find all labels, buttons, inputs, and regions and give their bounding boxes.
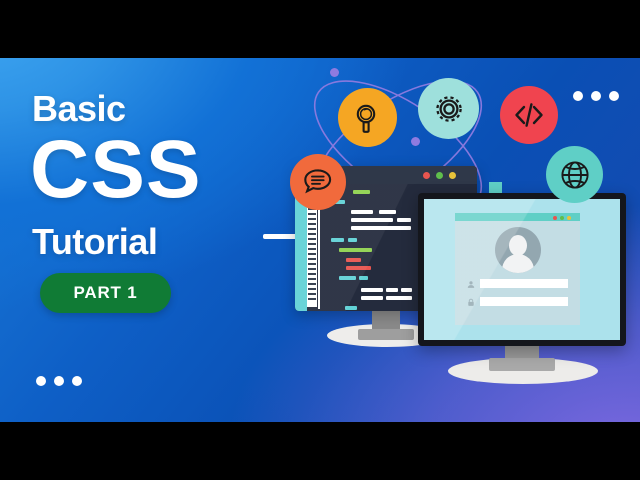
orbit-dot <box>411 137 420 146</box>
dot-icon <box>36 376 46 386</box>
gear-icon <box>418 78 479 139</box>
login-screen-monitor <box>418 193 626 346</box>
dot-icon <box>573 91 583 101</box>
window-dot-yellow <box>449 172 456 179</box>
window-dot-red <box>423 172 430 179</box>
artwork-canvas: Basic CSS Tutorial PART 1 <box>0 58 640 422</box>
login-monitor-glare <box>424 199 620 340</box>
dot-icon <box>72 376 82 386</box>
code-monitor-stand-base <box>358 329 414 340</box>
dot-icon <box>609 91 619 101</box>
login-monitor-stand-base <box>489 358 555 371</box>
status-badge-label: PART 1 <box>74 283 138 303</box>
headline-line-3: Tutorial <box>32 221 157 263</box>
dot-icon <box>54 376 64 386</box>
page-title: CSS <box>30 131 202 209</box>
dots-decoration-right <box>573 91 619 101</box>
code-tag-icon <box>500 86 558 144</box>
thumbnail-frame: Basic CSS Tutorial PART 1 <box>0 0 640 480</box>
orbit-dot <box>330 68 339 77</box>
window-dot-green <box>436 172 443 179</box>
magnifier-icon <box>338 88 397 147</box>
login-monitor-screen <box>424 199 620 340</box>
chat-bubble-icon <box>290 154 346 210</box>
dots-decoration-left <box>36 376 82 386</box>
status-badge: PART 1 <box>40 273 171 313</box>
dot-icon <box>591 91 601 101</box>
globe-icon <box>546 146 603 203</box>
